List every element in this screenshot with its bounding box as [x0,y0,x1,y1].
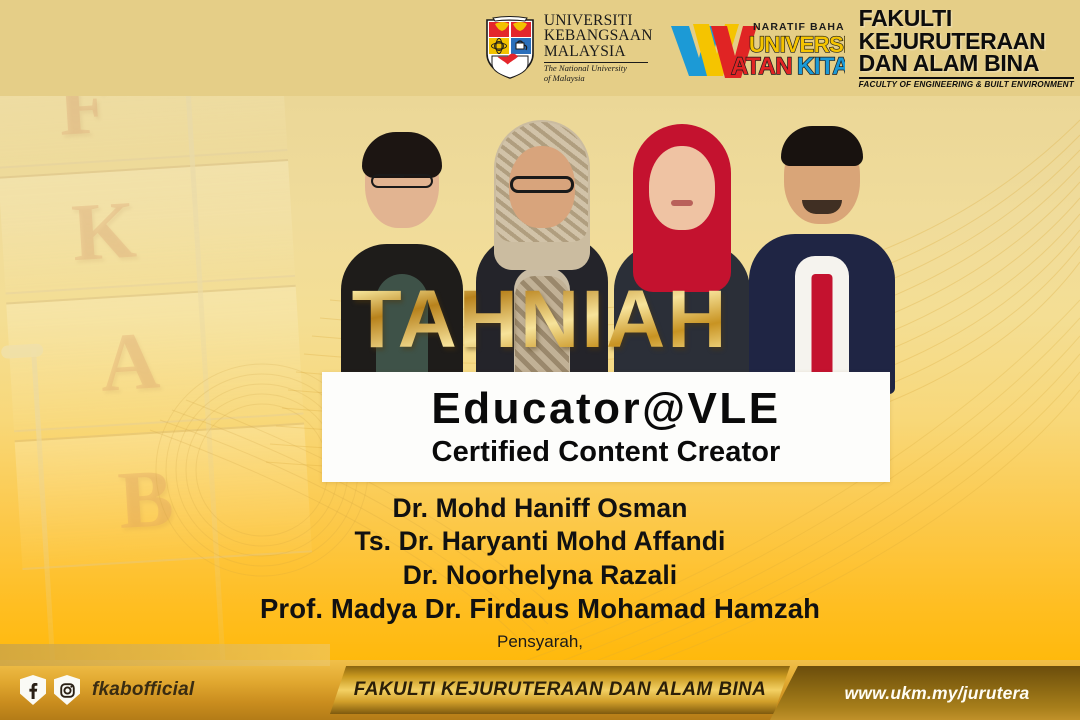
poster-canvas: F K A B [0,0,1080,720]
ukm-tagline-2: of Malaysia [544,74,653,84]
watan-kita-logo: NARATIF BAHARU UKM UNIVERSITI ATAN KITA [667,14,845,82]
award-banner: Educator@VLE Certified Content Creator [322,372,890,482]
award-title: Educator@VLE [431,387,780,431]
footer-url-zone[interactable]: www.ukm.my/jurutera [770,666,1080,720]
social-links[interactable]: fkabofficial [20,675,194,705]
footer-bar: fkabofficial FAKULTI KEJURUTERAAN DAN AL… [0,660,1080,720]
honoree-name-1: Dr. Mohd Haniff Osman [0,492,1080,525]
ukm-line-2: KEBANGSAAN [544,28,653,44]
ukm-crest-icon [483,16,537,80]
faculty-subtitle: FACULTY OF ENGINEERING & BUILT ENVIRONME… [859,81,1074,89]
tahniah-headline: TAHNIAH [0,279,1080,361]
honoree-name-4: Prof. Madya Dr. Firdaus Mohamad Hamzah [0,592,1080,627]
faculty-divider [859,77,1074,79]
ukm-line-1: UNIVERSITI [544,13,653,29]
social-handle-text[interactable]: fkabofficial [92,679,194,701]
footer-top-strip [0,644,330,666]
award-subtitle: Certified Content Creator [432,438,781,467]
ukm-line-3: MALAYSIA [544,44,653,60]
faculty-wordmark: FAKULTI KEJURUTERAAN DAN ALAM BINA FACUL… [859,7,1074,89]
honoree-name-3: Dr. Noorhelyna Razali [0,559,1080,592]
bg-letter-k: K [69,183,138,281]
ukm-logo-lockup: UNIVERSITI KEBANGSAAN MALAYSIA The Natio… [483,13,653,84]
footer-url-text[interactable]: www.ukm.my/jurutera [820,683,1029,704]
footer-faculty-ribbon: FAKULTI KEJURUTERAAN DAN ALAM BINA [330,666,790,714]
watan-kita-text: KITA [797,53,845,80]
faculty-line-3: DAN ALAM BINA [859,52,1074,75]
honoree-name-2: Ts. Dr. Haryanti Mohd Affandi [0,525,1080,558]
facebook-icon[interactable] [20,675,46,705]
watan-watan-text: ATAN [731,53,792,80]
ukm-wordmark: UNIVERSITI KEBANGSAAN MALAYSIA The Natio… [544,13,653,84]
header-logo-bar: UNIVERSITI KEBANGSAAN MALAYSIA The Natio… [0,0,1080,96]
footer-faculty-text: FAKULTI KEJURUTERAAN DAN ALAM BINA [354,679,767,701]
faculty-line-1: FAKULTI [859,7,1074,30]
instagram-icon[interactable] [54,675,80,705]
faculty-line-2: KEJURUTERAAN [859,30,1074,53]
